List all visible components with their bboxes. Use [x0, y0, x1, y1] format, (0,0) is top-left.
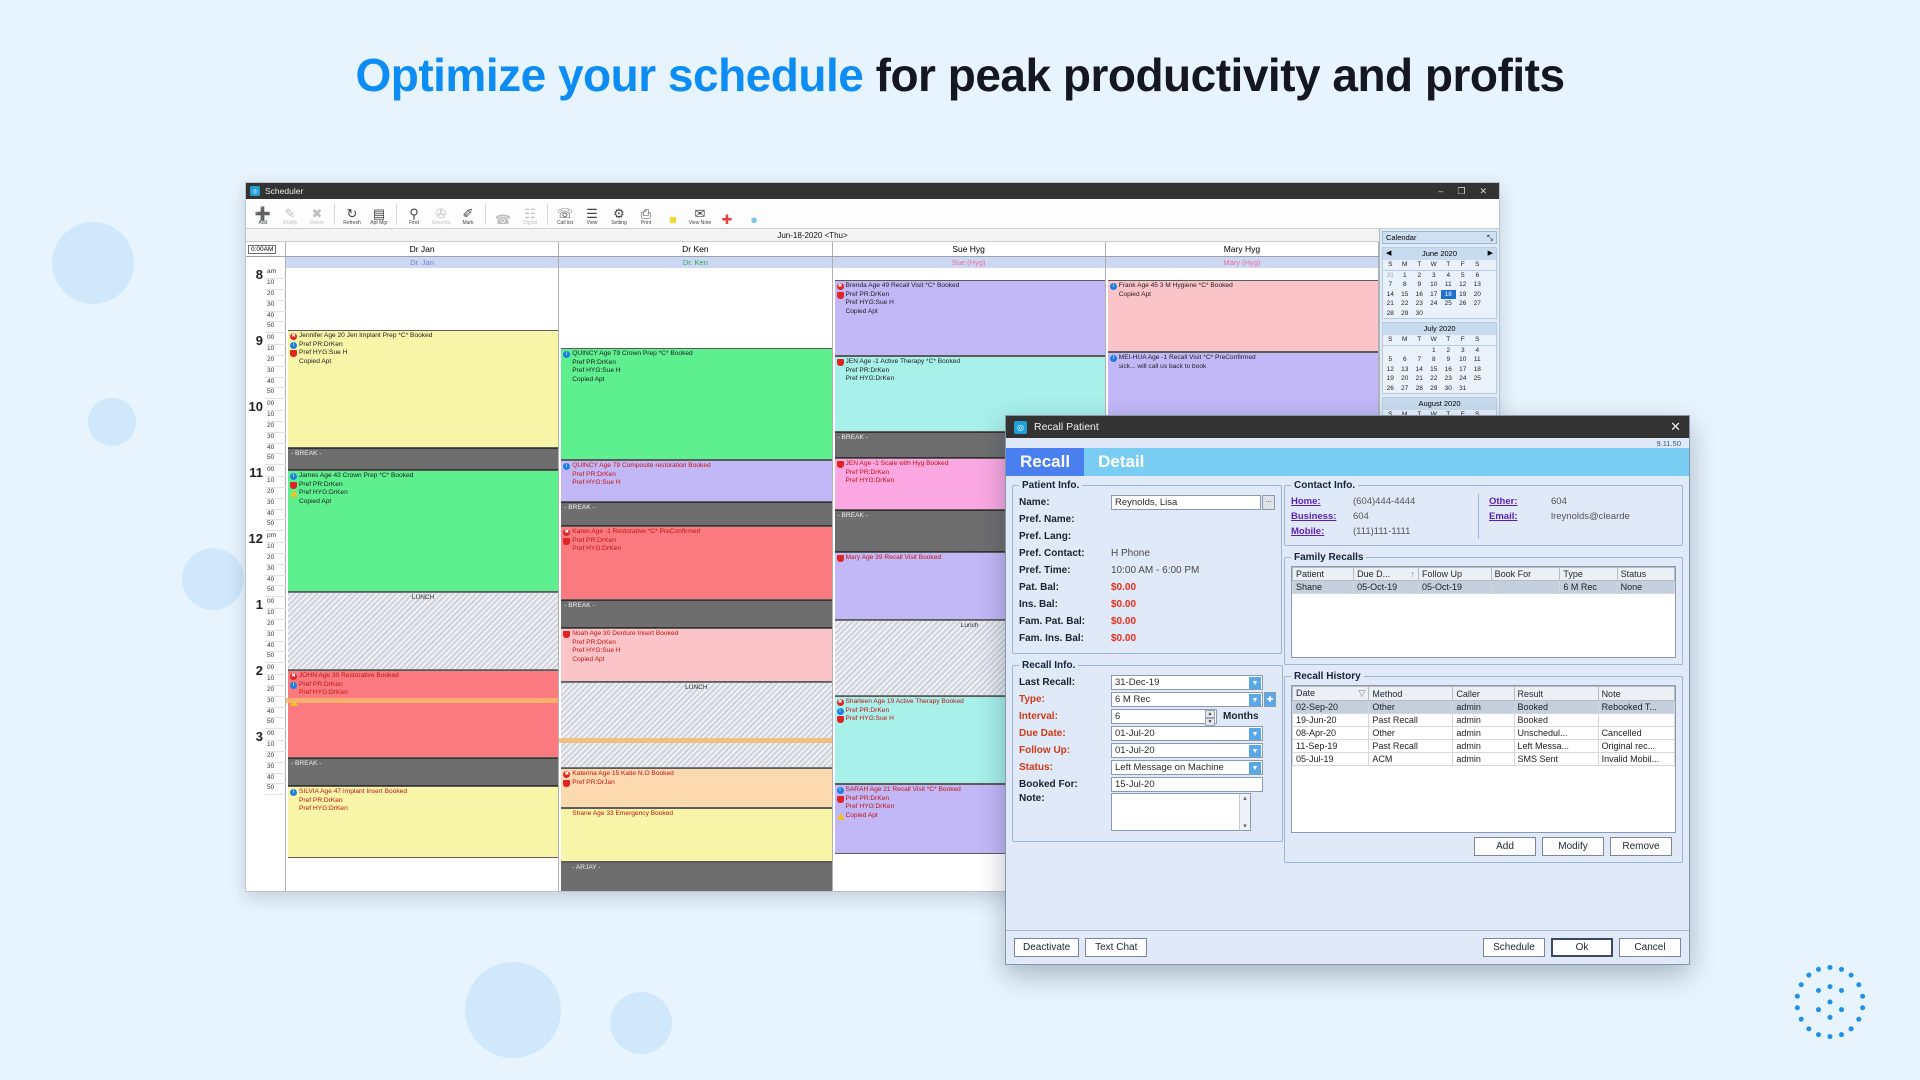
calendar-day[interactable]: 13	[1470, 280, 1485, 290]
toolbar-refresh-button[interactable]: ↻Refresh	[339, 200, 365, 227]
info-icon: i	[290, 789, 297, 796]
decor-circle	[52, 222, 134, 304]
calendar-dow: T	[1441, 260, 1456, 270]
scrollbar[interactable]: ▴▾	[1239, 794, 1250, 830]
recall-tabs[interactable]: RecallDetail	[1006, 448, 1689, 476]
contact-label[interactable]: Email:	[1489, 511, 1551, 522]
appointment-block[interactable]: iMEI-HUA Age -1 Recall Visit *C* PreConf…	[1108, 352, 1378, 424]
recall-field-followup[interactable]: Follow Up:01-Jul-20▼	[1019, 742, 1276, 759]
calendar-day[interactable]: 17	[1456, 365, 1471, 375]
toolbar-chat-button[interactable]: ●	[741, 200, 767, 227]
remove-button[interactable]: Remove	[1610, 837, 1672, 856]
appointment-block[interactable]: iQUINCY Age 79 Composite restoration Boo…	[561, 460, 831, 502]
stepper-up-icon[interactable]: ▲	[1205, 710, 1215, 718]
find-label: Find	[409, 220, 419, 226]
minute-label: pm	[265, 532, 286, 543]
calendar-day[interactable]: 27	[1470, 299, 1485, 309]
toolbar-headset-button: ☎	[490, 200, 516, 227]
calendar-day[interactable]: 29	[1427, 384, 1442, 394]
calendar-day[interactable]: 10	[1427, 280, 1442, 290]
appointment-line: iJames Age 43 Crown Prep *C* Booked	[290, 472, 557, 481]
calendar-day[interactable]: 10	[1456, 355, 1471, 365]
provider-column-drjan[interactable]: Dr. Jan✖Jennifer Age 20 Jen Implant Prep…	[286, 257, 559, 891]
minute-label: 30	[265, 697, 286, 708]
appointment-text: Noah Age 30 Denture Insert Booked	[572, 630, 830, 639]
mark-label: Mark	[462, 220, 473, 226]
calendar-day	[1398, 346, 1413, 356]
appointment-line: Pref HYG:DrKen	[563, 545, 830, 554]
column-header-3[interactable]: Mary Hyg	[1106, 242, 1379, 256]
table-cell: Original rec...	[1598, 740, 1674, 753]
calendar-day[interactable]: 28	[1412, 384, 1427, 394]
calendar-dow: S	[1383, 335, 1398, 345]
fam-ins-bal-label: Fam. Ins. Bal:	[1019, 633, 1111, 644]
calendar-day[interactable]: 7	[1412, 355, 1427, 365]
calendar-day[interactable]: 9	[1441, 355, 1456, 365]
provider-subheader: Mary (Hyg)	[1106, 257, 1378, 268]
calendar-day[interactable]: 21	[1412, 374, 1427, 384]
minute-label: 20	[265, 686, 286, 697]
toolbar-view-button[interactable]: ☰View	[579, 200, 605, 227]
table-cell: 08-Apr-20	[1293, 727, 1369, 740]
minute-label: 40	[265, 774, 286, 785]
calendar-day[interactable]: 31	[1456, 384, 1471, 394]
family-recalls-table[interactable]: PatientDue D...↑Follow UpBook ForTypeSta…	[1292, 567, 1675, 594]
modify-button[interactable]: Modify	[1542, 837, 1604, 856]
calendar-day[interactable]: 20	[1470, 290, 1485, 300]
calendar-day[interactable]: 26	[1456, 299, 1471, 309]
calendar-week-row: 282930	[1383, 309, 1496, 319]
calendar-week-row: 1234	[1383, 346, 1496, 356]
recall-field-duedate[interactable]: Due Date:01-Jul-20▼	[1019, 725, 1276, 742]
minute-label: 10	[265, 675, 286, 686]
calendar-day[interactable]: 24	[1456, 374, 1471, 384]
calendar-day[interactable]: 16	[1441, 365, 1456, 375]
recall-field-bookedfor[interactable]: Booked For:15-Jul-20	[1019, 776, 1276, 793]
appointment-block[interactable]: - ARJAY -	[561, 862, 831, 891]
calendar-day[interactable]: 19	[1383, 374, 1398, 384]
appointment-text: Copied Apt	[1119, 291, 1377, 300]
calendar-day[interactable]: 6	[1398, 355, 1413, 365]
appointment-block[interactable]: ✖JOHN Age 30 Restorative BookediPref PR:…	[288, 670, 558, 758]
minute-label: 50	[265, 586, 286, 597]
scroll-up-icon[interactable]: ▴	[1243, 794, 1247, 802]
appointment-text: Pref HYG:Sue H	[846, 299, 1104, 308]
calendar-day[interactable]: 1	[1398, 271, 1413, 281]
headline-accent: Optimize your schedule	[355, 49, 863, 101]
contact-label[interactable]: Other:	[1489, 496, 1551, 507]
calendar-day[interactable]: 29	[1398, 309, 1413, 319]
time-column-header: 0:00AM	[246, 242, 286, 256]
calendar-day[interactable]: 17	[1427, 290, 1442, 300]
maximize-button[interactable]: ❐	[1457, 186, 1465, 197]
contact-row-right-1: Email:lreynolds@clearde	[1489, 509, 1676, 524]
name-input[interactable]: Reynolds, Lisa	[1111, 495, 1261, 510]
calendar-day[interactable]: 8	[1427, 355, 1442, 365]
table-cell: Unschedul...	[1514, 727, 1598, 740]
calendar-day[interactable]: 15	[1427, 365, 1442, 375]
appointment-line: Shane Age 33 Emergency Booked	[563, 810, 830, 819]
calendar-day[interactable]: 27	[1398, 384, 1413, 394]
pat-bal-label: Pat. Bal:	[1019, 582, 1111, 593]
toolbar-emergency-button[interactable]: ✚	[714, 200, 740, 227]
appointment-text: Pref PR:DrKen	[299, 481, 557, 490]
recall-field-interval[interactable]: Interval:6▲▼Months	[1019, 708, 1276, 725]
calendar-day[interactable]: 24	[1427, 299, 1442, 309]
calendar-day[interactable]: 23	[1441, 374, 1456, 384]
appointment-line: Pref PR:DrKen	[563, 359, 830, 368]
column-header[interactable]: Result	[1514, 687, 1598, 701]
calendar-day[interactable]: 18	[1470, 365, 1485, 375]
contact-label[interactable]: Mobile:	[1291, 526, 1353, 537]
field-label: Due Date:	[1019, 728, 1111, 739]
appointment-text: Copied Apt	[572, 656, 830, 665]
minute-label: 40	[265, 510, 286, 521]
time-hour-1: 1001020304050	[246, 598, 286, 663]
calendar-next-icon[interactable]: ▶	[1488, 248, 1493, 260]
field-name[interactable]: Name: Reynolds, Lisa ⋯	[1019, 494, 1275, 511]
appointment-icon: ✖	[563, 528, 571, 537]
calendar-day[interactable]: 30	[1412, 309, 1427, 319]
calendar-day[interactable]: 20	[1398, 374, 1413, 384]
calendar-dow: M	[1398, 335, 1413, 345]
calendar-day[interactable]: 22	[1398, 299, 1413, 309]
appointment-block[interactable]: ✖Jennifer Age 20 Jen Implant Prep *C* Bo…	[288, 330, 558, 448]
calendar-day[interactable]: 18	[1441, 290, 1456, 300]
ins-bal-label: Ins. Bal:	[1019, 599, 1111, 610]
table-row[interactable]: 02-Sep-20OtheradminBookedRebooked T...	[1293, 701, 1675, 714]
calendar-day[interactable]: 21	[1383, 299, 1398, 309]
column-header[interactable]: Note	[1598, 687, 1674, 701]
contact-row-right-0: Other:604	[1489, 494, 1676, 509]
calendar-day[interactable]: 28	[1383, 309, 1398, 319]
field-input[interactable]: 01-Jul-20▼	[1111, 726, 1263, 741]
calendar-month-0[interactable]: ◀▶June 2020SMTWTFS3112345678910111213141…	[1382, 247, 1497, 319]
calendar-day[interactable]: 23	[1412, 299, 1427, 309]
appointment-icon: i	[290, 472, 298, 481]
column-headers: 0:00AM Dr JanDr KenSue HygMary Hyg	[246, 242, 1379, 257]
column-header[interactable]: Patient	[1293, 568, 1354, 581]
provider-subheader: Sue (Hyg)	[833, 257, 1105, 268]
close-button[interactable]: ✕	[1479, 186, 1487, 197]
ok-button[interactable]: Ok	[1551, 938, 1613, 957]
minute-label: 20	[265, 752, 286, 763]
table-row[interactable]: 19-Jun-20Past RecalladminBooked	[1293, 714, 1675, 727]
field-label: Type:	[1019, 694, 1111, 705]
calendar-dow: M	[1398, 260, 1413, 270]
field-input[interactable]: 6▲▼	[1111, 709, 1217, 724]
calendar-day	[1470, 309, 1485, 319]
calendar-day[interactable]: 15	[1398, 290, 1413, 300]
calendar-prev-icon[interactable]: ◀	[1386, 248, 1391, 260]
field-input[interactable]: 01-Jul-20▼	[1111, 743, 1263, 758]
schedule-button[interactable]: Schedule	[1483, 938, 1545, 957]
appointment-line: iFrank Age 45 3 M Hygiene *C* Booked	[1110, 282, 1377, 291]
calendar-day[interactable]: 12	[1456, 280, 1471, 290]
appointment-icon	[563, 779, 571, 788]
break-block[interactable]: - BREAK -	[288, 448, 558, 470]
calendar-month-1[interactable]: July 2020SMTWTFS123456789101112131415161…	[1382, 322, 1497, 394]
appointment-block[interactable]: iSILVIA Age 47 Implant Insert BookedPref…	[288, 786, 558, 858]
minute-label: 30	[265, 631, 286, 642]
recall-patient-dialog[interactable]: ◎ Recall Patient ✕ 9.11.50 RecallDetail …	[1005, 415, 1690, 965]
appointment-line: ✖Karen Age -1 Restorative *C* PreConfirm…	[563, 528, 830, 537]
appointment-text: Pref PR:DrKen	[299, 797, 557, 806]
appointment-icon: i	[290, 341, 298, 350]
column-header[interactable]: Caller	[1453, 687, 1514, 701]
appointment-text: Frank Age 45 3 M Hygiene *C* Booked	[1119, 282, 1377, 291]
appointment-line: sick... will call us back to book	[1110, 363, 1377, 372]
appointment-icon	[837, 291, 845, 300]
contact-right-column: Other:604Email:lreynolds@clearde	[1478, 494, 1676, 539]
toolbar-mark-button[interactable]: ✐Mark	[455, 200, 481, 227]
appointment-line: iQUINCY Age 79 Crown Prep *C* Booked	[563, 350, 830, 359]
lunch-block[interactable]: LUNCH	[288, 592, 558, 670]
column-header[interactable]: Follow Up	[1419, 568, 1492, 581]
table-row[interactable]: 11-Sep-19Past RecalladminLeft Messa...Or…	[1293, 740, 1675, 753]
patient-info-group: Patient Info. Name: Reynolds, Lisa ⋯ Pre…	[1012, 480, 1282, 654]
break-block[interactable]: - BREAK -	[288, 758, 558, 786]
appointment-line: Pref HYG:DrKen	[290, 689, 557, 698]
provider-subheader: Dr. Jan	[286, 257, 558, 268]
column-header[interactable]: Due D...↑	[1354, 568, 1419, 581]
scheduler-title: Scheduler	[265, 186, 1438, 196]
calendar-day[interactable]: 19	[1456, 290, 1471, 300]
family-recalls-legend: Family Recalls	[1291, 552, 1366, 563]
calendar-day[interactable]: 30	[1441, 384, 1456, 394]
column-header[interactable]: Status	[1617, 568, 1674, 581]
calendar-day[interactable]: 3	[1427, 271, 1442, 281]
calendar-day[interactable]: 12	[1383, 365, 1398, 375]
appointment-block[interactable]: iFrank Age 45 3 M Hygiene *C* BookedCopi…	[1108, 280, 1378, 352]
field-input[interactable]: 15-Jul-20	[1111, 777, 1263, 792]
recall-history-table[interactable]: Date▽MethodCallerResultNote02-Sep-20Othe…	[1292, 686, 1675, 766]
appointment-block[interactable]: Shane Age 33 Emergency Booked	[561, 808, 831, 862]
recall-field-lastrecall[interactable]: Last Recall:31-Dec-19▼	[1019, 674, 1276, 691]
alert-dot-icon: ✖	[837, 699, 844, 706]
minute-label: 40	[265, 378, 286, 389]
time-hour-8: 8am1020304050	[246, 268, 286, 333]
calendar-week-row: 567891011	[1383, 355, 1496, 365]
pref-time-value: 10:00 AM - 6:00 PM	[1111, 565, 1199, 576]
toolbar-view-note-button[interactable]: ✉View Note	[687, 200, 713, 227]
appointment-icon	[563, 537, 571, 546]
ins-bal-value: $0.00	[1111, 599, 1136, 610]
toolbar-add-button[interactable]: ➕Add	[250, 200, 276, 227]
recall-history-buttons[interactable]: AddModifyRemove	[1291, 833, 1676, 856]
table-cell	[1491, 581, 1560, 594]
appointment-icon: i	[1110, 354, 1118, 363]
column-header[interactable]: Method	[1369, 687, 1453, 701]
contact-row-left-1: Business:604	[1291, 509, 1478, 524]
calendar-day[interactable]: 13	[1398, 365, 1413, 375]
appointment-line: iMEI-HUA Age -1 Recall Visit *C* PreConf…	[1110, 354, 1377, 363]
calendar-day[interactable]: 2	[1441, 346, 1456, 356]
chevron-down-icon[interactable]: ▼	[1249, 728, 1261, 740]
name-label: Name:	[1019, 497, 1111, 508]
info-icon: i	[1110, 355, 1117, 362]
calendar-day[interactable]: 3	[1456, 346, 1471, 356]
calendar-day[interactable]: 5	[1383, 355, 1398, 365]
note-textarea[interactable]: ▴▾	[1111, 793, 1251, 831]
calendar-day[interactable]: 6	[1470, 271, 1485, 281]
scroll-down-icon[interactable]: ▾	[1243, 822, 1247, 830]
current-time-indicator	[559, 738, 831, 743]
appointment-line: Pref PR:DrKen	[563, 471, 830, 480]
sort-indicator-icon: ▽	[1358, 688, 1365, 699]
time-hour-12: 12pm1020304050	[246, 532, 286, 597]
field-input[interactable]: 31-Dec-19▼	[1111, 675, 1263, 690]
appointment-text: Pref HYG:Sue H	[572, 367, 830, 376]
field-pref-name: Pref. Name:	[1019, 511, 1275, 528]
cancel-button[interactable]: Cancel	[1619, 938, 1681, 957]
minute-label: 30	[265, 433, 286, 444]
calendar-day[interactable]: 16	[1412, 290, 1427, 300]
appointment-line: Copied Apt	[563, 656, 830, 665]
pin-icon[interactable]: ⤡	[1487, 233, 1493, 243]
calendar-week-row: 12131415161718	[1383, 365, 1496, 375]
table-cell: Invalid Mobil...	[1598, 753, 1674, 766]
column-header-1[interactable]: Dr Ken	[559, 242, 832, 256]
appointment-text: Pref HYG:DrKen	[299, 805, 557, 814]
contact-label[interactable]: Business:	[1291, 511, 1353, 522]
toolbar-find-button[interactable]: ⚲Find	[401, 200, 427, 227]
calendar-day[interactable]: 2	[1412, 271, 1427, 281]
chevron-down-icon[interactable]: ▼	[1249, 762, 1261, 774]
toolbar-note-button[interactable]: ■	[660, 200, 686, 227]
contact-label[interactable]: Home:	[1291, 496, 1353, 507]
tab-detail[interactable]: Detail	[1084, 448, 1158, 476]
calendar-day[interactable]: 14	[1412, 365, 1427, 375]
calendar-day[interactable]: 1	[1427, 346, 1442, 356]
column-header-0[interactable]: Dr Jan	[286, 242, 559, 256]
calendar-day[interactable]: 25	[1470, 374, 1485, 384]
calendar-day[interactable]: 11	[1441, 280, 1456, 290]
setting-icon: ⚙	[613, 207, 625, 220]
calendar-day	[1412, 346, 1427, 356]
stepper[interactable]: ▲▼	[1205, 710, 1215, 724]
calendar-dow: W	[1427, 260, 1442, 270]
text-chat-button[interactable]: Text Chat	[1085, 938, 1147, 957]
tab-recall[interactable]: Recall	[1006, 448, 1084, 476]
recall-field-status[interactable]: Status:Left Message on Machine▼	[1019, 759, 1276, 776]
appointment-block[interactable]: iJames Age 43 Crown Prep *C* BookedPref …	[288, 470, 558, 592]
bell-icon	[290, 482, 297, 489]
appointment-text: QUINCY Age 79 Composite restoration Book…	[572, 462, 830, 471]
table-row[interactable]: Shane05-Oct-1905-Oct-196 M RecNone	[1293, 581, 1675, 594]
minimize-button[interactable]: –	[1438, 186, 1443, 197]
break-block[interactable]: - BREAK -	[561, 502, 831, 526]
calendar-day[interactable]: 14	[1383, 290, 1398, 300]
appointment-line: Noah Age 30 Denture Insert Booked	[563, 630, 830, 639]
column-header[interactable]: Type	[1560, 568, 1617, 581]
toolbar-setting-button[interactable]: ⚙Setting	[606, 200, 632, 227]
info-icon: i	[563, 351, 570, 358]
name-browse-button[interactable]: ⋯	[1262, 495, 1275, 510]
appointment-text: Copied Apt	[299, 498, 557, 507]
appointment-block[interactable]: Noah Age 30 Denture Insert BookedPref PR…	[561, 628, 831, 682]
calendar-day[interactable]: 25	[1441, 299, 1456, 309]
toolbar-call-list-button[interactable]: ☏Call list	[552, 200, 578, 227]
close-icon[interactable]: ✕	[1670, 419, 1681, 435]
calendar-day[interactable]: 9	[1412, 280, 1427, 290]
table-cell: 11-Sep-19	[1293, 740, 1369, 753]
column-header[interactable]: Book For	[1491, 568, 1560, 581]
table-cell: SMS Sent	[1514, 753, 1598, 766]
table-cell: Past Recall	[1369, 740, 1453, 753]
bell-icon	[837, 796, 844, 803]
appointment-text: Pref PR:DrKen	[572, 471, 830, 480]
stepper-down-icon[interactable]: ▼	[1205, 718, 1215, 726]
toolbar-print-button[interactable]: ⎙Print	[633, 200, 659, 227]
appointment-icon	[290, 481, 298, 490]
minute-label: 10	[265, 741, 286, 752]
add-type-button[interactable]: ✚	[1264, 692, 1276, 707]
table-row[interactable]: 08-Apr-20OtheradminUnschedul...Cancelled	[1293, 727, 1675, 740]
fam-pat-bal-label: Fam. Pat. Bal:	[1019, 616, 1111, 627]
chevron-down-icon[interactable]: ▼	[1249, 745, 1261, 757]
appointment-line: Copied Apt	[290, 358, 557, 367]
delete-icon: ✖	[312, 207, 323, 220]
calendar-day[interactable]: 7	[1383, 280, 1398, 290]
chevron-down-icon[interactable]: ▼	[1249, 694, 1261, 706]
calendar-day[interactable]: 5	[1456, 271, 1471, 281]
minute-label: 20	[265, 356, 286, 367]
field-input[interactable]: 6 M Rec▼	[1111, 692, 1263, 707]
calendar-month-header: ◀▶June 2020	[1383, 248, 1496, 260]
appointment-text: Copied Apt	[299, 358, 557, 367]
appointment-text: Copied Apt	[846, 308, 1104, 317]
break-block[interactable]: - BREAK -	[561, 600, 831, 628]
appointment-block[interactable]: ✖Karen Age -1 Restorative *C* PreConfirm…	[561, 526, 831, 600]
calendar-month-header: July 2020	[1383, 323, 1496, 335]
deactivate-button[interactable]: Deactivate	[1014, 938, 1079, 957]
column-header-2[interactable]: Sue Hyg	[833, 242, 1106, 256]
appointment-block[interactable]: ✖Brenda Age 49 Recall Visit *C* BookedPr…	[835, 280, 1105, 356]
hour-label: 3	[246, 730, 265, 795]
calendar-day[interactable]: 11	[1470, 355, 1485, 365]
view-label: View	[587, 220, 598, 226]
calendar-day[interactable]: 4	[1470, 346, 1485, 356]
calendar-day[interactable]: 22	[1427, 374, 1442, 384]
field-input[interactable]: Left Message on Machine▼	[1111, 760, 1263, 775]
appointment-block[interactable]: ✖Katerina Age 15 Katie N.O BookedPref PR…	[561, 768, 831, 808]
field-ins-bal: Ins. Bal: $0.00	[1019, 596, 1275, 613]
appointment-block[interactable]: iQUINCY Age 79 Crown Prep *C* BookedPref…	[561, 348, 831, 460]
toolbar-apt-mgr-button[interactable]: ▤Apt Mgr	[366, 200, 392, 227]
calendar-day[interactable]: 31	[1383, 271, 1398, 281]
calendar-day	[1383, 346, 1398, 356]
calendar-month-label: June 2020	[1422, 249, 1457, 258]
scheduler-toolbar[interactable]: ➕Add✎Modify✖Delete↻Refresh▤Apt Mgr⚲Find✇…	[246, 199, 1499, 229]
date-bar[interactable]: Jun-18-2020 <Thu>	[246, 229, 1379, 242]
provider-column-drken[interactable]: Dr. KeniQUINCY Age 79 Crown Prep *C* Boo…	[559, 257, 832, 891]
recall-field-type[interactable]: Type:6 M Rec▼✚	[1019, 691, 1276, 708]
column-header[interactable]: Date▽	[1293, 687, 1369, 701]
calendar-day[interactable]: 8	[1398, 280, 1413, 290]
calendar-day[interactable]: 4	[1441, 271, 1456, 281]
appointment-line: Pref HYG:Sue H	[563, 367, 830, 376]
chevron-down-icon[interactable]: ▼	[1249, 677, 1261, 689]
calendar-month-label: July 2020	[1423, 324, 1455, 333]
add-button[interactable]: Add	[1474, 837, 1536, 856]
calendar-day[interactable]: 26	[1383, 384, 1398, 394]
contact-info-legend: Contact Info.	[1291, 480, 1358, 491]
table-row[interactable]: 05-Jul-19ACMadminSMS SentInvalid Mobil..…	[1293, 753, 1675, 766]
recall-field-note[interactable]: Note:▴▾	[1019, 793, 1276, 835]
lunch-block[interactable]: LUNCH	[561, 682, 831, 768]
calendar-week-row: 31123456	[1383, 271, 1496, 281]
